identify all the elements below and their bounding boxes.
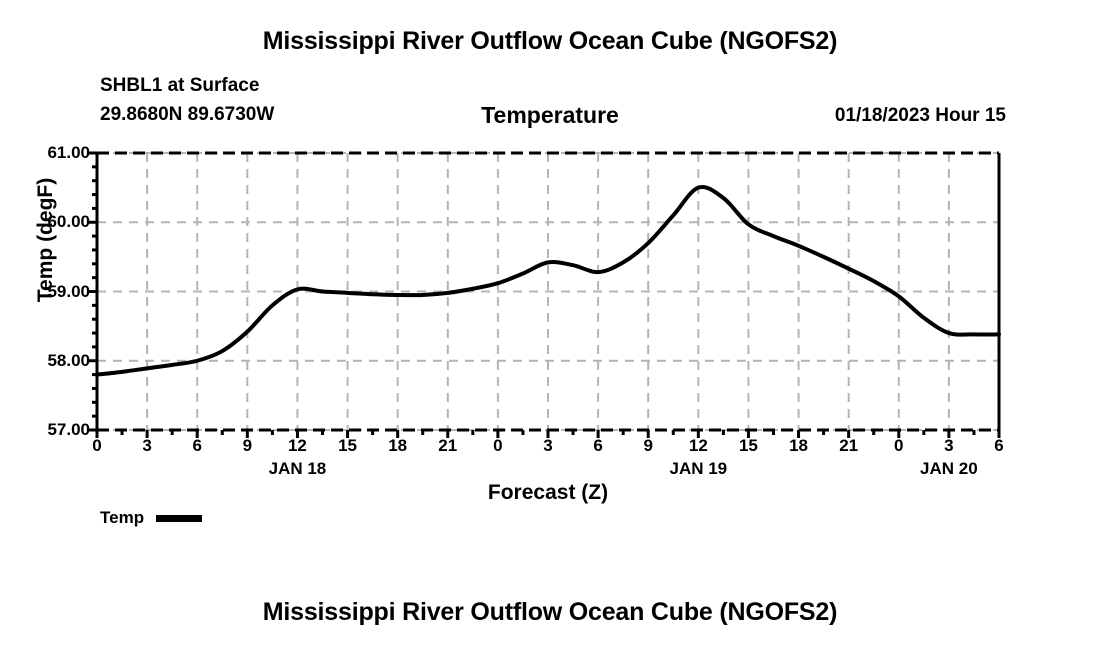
x-tick-label: 12 [678, 436, 718, 456]
x-tick-label: 12 [277, 436, 317, 456]
x-tick-label: 0 [77, 436, 117, 456]
footer-title: Mississippi River Outflow Ocean Cube (NG… [0, 598, 1100, 627]
x-tick-label: 3 [929, 436, 969, 456]
x-axis-day-label: JAN 18 [237, 459, 357, 479]
x-tick-label: 9 [227, 436, 267, 456]
legend: Temp [100, 508, 202, 528]
x-tick-label: 21 [829, 436, 869, 456]
x-tick-label: 21 [428, 436, 468, 456]
x-tick-label: 3 [127, 436, 167, 456]
x-axis-day-label: JAN 20 [889, 459, 1009, 479]
x-tick-label: 6 [177, 436, 217, 456]
x-tick-label: 15 [728, 436, 768, 456]
legend-label: Temp [100, 508, 144, 528]
x-tick-label: 9 [628, 436, 668, 456]
x-tick-label: 18 [378, 436, 418, 456]
x-tick-label: 3 [528, 436, 568, 456]
x-axis-tick-labels: 036912151821036912151821036JAN 18JAN 19J… [0, 0, 1100, 650]
x-tick-label: 6 [979, 436, 1019, 456]
x-tick-label: 0 [879, 436, 919, 456]
x-tick-label: 6 [578, 436, 618, 456]
x-tick-label: 18 [779, 436, 819, 456]
x-axis-day-label: JAN 19 [638, 459, 758, 479]
x-tick-label: 15 [328, 436, 368, 456]
legend-line-swatch [156, 515, 202, 522]
chart-page: Mississippi River Outflow Ocean Cube (NG… [0, 0, 1100, 650]
x-tick-label: 0 [478, 436, 518, 456]
